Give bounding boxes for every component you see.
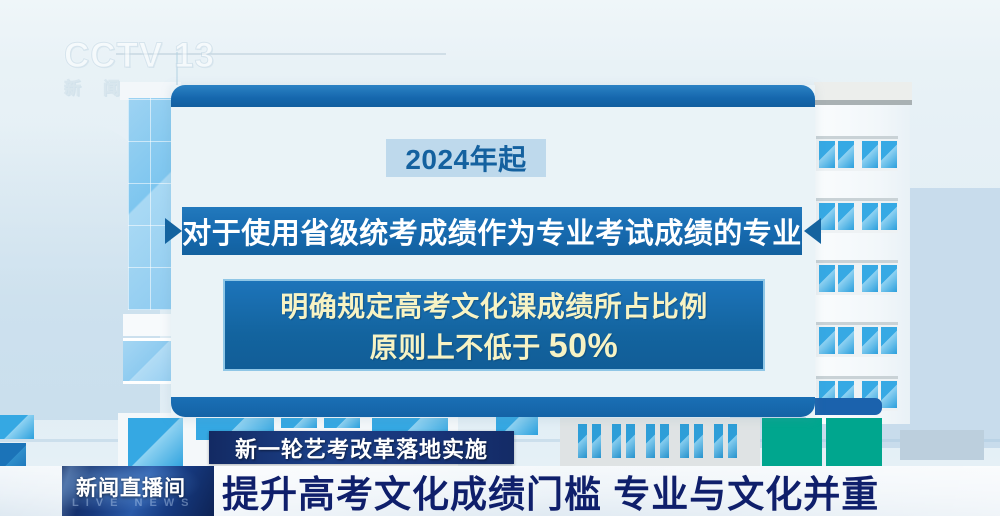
headline: 提升高考文化成绩门槛 专业与文化并重 [222, 468, 982, 514]
year-chip-label: 2024年起 [405, 138, 526, 178]
window-pane [324, 418, 360, 428]
policy-banner-text: 对于使用省级统考成绩作为专业考试成绩的专业 [182, 210, 802, 252]
info-card-top-bar [171, 85, 815, 107]
teal-accent-block [762, 418, 822, 468]
tower-left-lower-glass [123, 338, 178, 384]
building-left-tower [128, 98, 173, 398]
headline-text: 提升高考文化成绩门槛 专业与文化并重 [222, 464, 879, 516]
emphasis-line-1: 明确规定高考文化课成绩所占比例 [280, 285, 708, 325]
arrow-right-icon [165, 218, 182, 244]
program-badge: 新闻直播间 LIVE NEWS [62, 466, 214, 516]
tower-right-floor [816, 322, 898, 357]
tower-right-floor [816, 136, 898, 171]
subtitle-bar: 新一轮艺考改革落地实施 [209, 431, 514, 464]
tower-right-floor [816, 198, 898, 233]
arrow-left-icon [804, 218, 821, 244]
program-latin-name: LIVE NEWS [72, 497, 208, 509]
info-card: 2024年起 对于使用省级统考成绩作为专业考试成绩的专业 明确规定高考文化课成绩… [171, 85, 815, 417]
window-pane [281, 418, 317, 428]
emphasis-block: 明确规定高考文化课成绩所占比例 原则上不低于 50% [223, 279, 765, 371]
emphasis-line-2: 原则上不低于 50% [370, 326, 619, 366]
building-right-tower [806, 104, 910, 424]
window-pane [128, 418, 183, 470]
watermark-rule [116, 53, 446, 55]
tower-right-roof [814, 82, 912, 105]
subtitle-text: 新一轮艺考改革落地实施 [235, 432, 488, 464]
year-chip: 2024年起 [386, 139, 546, 177]
emphasis-line-2-prefix: 原则上不低于 [370, 326, 541, 366]
info-card-body: 2024年起 对于使用省级统考成绩作为专业考试成绩的专业 明确规定高考文化课成绩… [171, 107, 815, 397]
policy-banner: 对于使用省级统考成绩作为专业考试成绩的专业 [182, 207, 802, 255]
info-card-bottom-bar [171, 397, 815, 417]
emphasis-percentage-value: 50% [549, 327, 619, 366]
tower-left-glass-facade [128, 98, 173, 310]
sky-band [0, 0, 1000, 60]
tower-right-floor [816, 260, 898, 295]
building-far-right [900, 430, 984, 460]
tower-left-base [123, 314, 178, 336]
window-pane [0, 415, 34, 439]
broadcast-frame: CCTV 13 新闻 2024年起 对于使用省级统考成绩作为专业考试成绩的专业 … [0, 0, 1000, 516]
teal-accent-block [826, 418, 882, 468]
